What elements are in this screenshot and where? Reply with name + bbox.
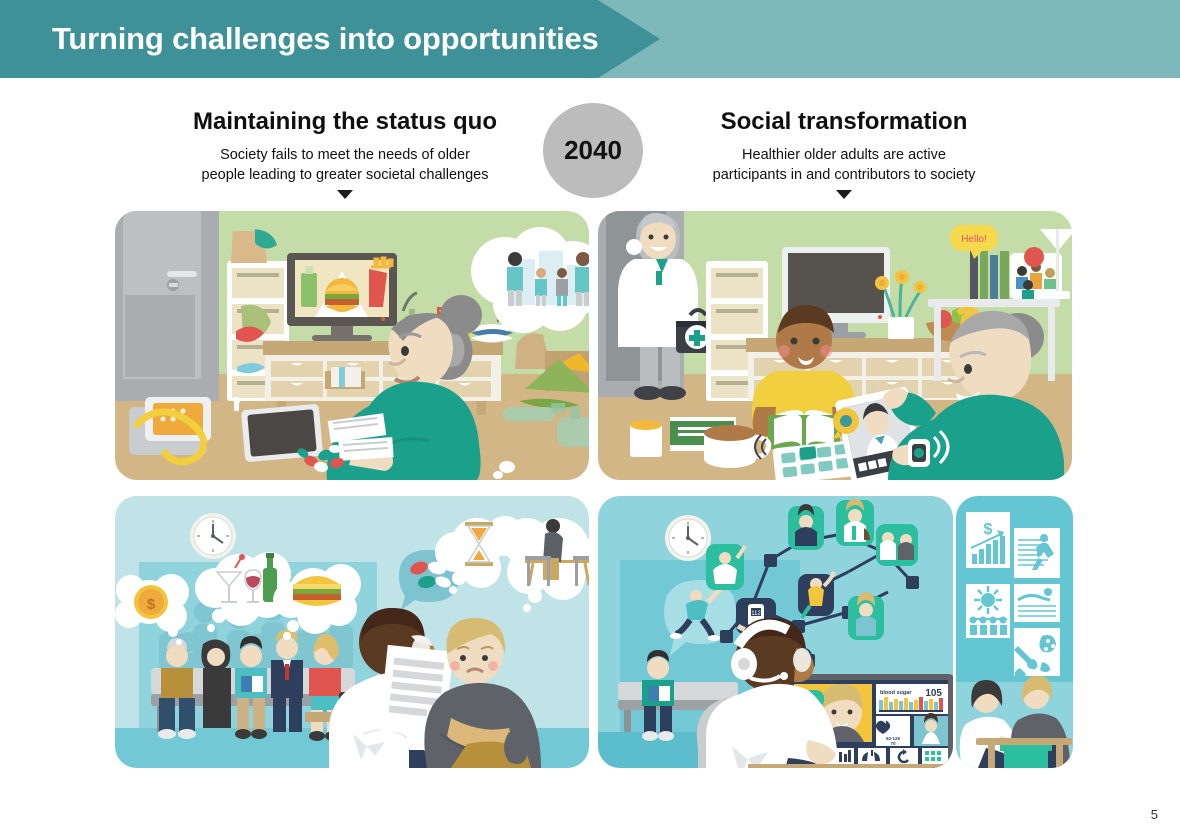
subtitle-maintaining-status-quo: Society fails to meet the needs of older…	[120, 145, 570, 185]
illustration-supported-home: Hello!	[598, 211, 1072, 480]
monitor-metric-value: 105	[925, 688, 942, 699]
subtitle-line-1: Healthier older adults are active	[742, 147, 946, 163]
heading-maintaining-status-quo: Maintaining the status quo	[120, 108, 570, 136]
svg-text:$: $	[984, 521, 993, 538]
caret-down-icon-left	[337, 190, 353, 199]
page-number: 5	[1151, 807, 1158, 822]
column-heading-right: Social transformation Healthier older ad…	[648, 108, 1040, 199]
illustration-activity-posters: $	[956, 496, 1073, 768]
svg-text:112: 112	[751, 611, 761, 617]
subtitle-line-1: Society fails to meet the needs of older	[220, 147, 470, 163]
page-title: Turning challenges into opportunities	[52, 0, 599, 78]
monitor-pulse-value: 70	[890, 741, 896, 746]
heading-social-transformation: Social transformation	[648, 108, 1040, 136]
subtitle-line-2: participants in and contributors to soci…	[713, 167, 976, 183]
illustration-crowded-clinic: $	[115, 496, 589, 768]
svg-text:$: $	[147, 596, 156, 613]
slide-root: Turning challenges into opportunities Ma…	[0, 0, 1180, 834]
illustration-cluttered-home: PO	[115, 211, 589, 480]
hello-bubble-text: Hello!	[961, 234, 987, 245]
subtitle-line-2: people leading to greater societal chall…	[202, 167, 489, 183]
illustration-connected-care: 112	[598, 496, 953, 768]
header-banner: Turning challenges into opportunities	[0, 0, 1180, 78]
caret-down-icon-right	[836, 190, 852, 199]
year-badge: 2040	[543, 103, 643, 198]
column-heading-left: Maintaining the status quo Society fails…	[120, 108, 570, 199]
subtitle-social-transformation: Healthier older adults are active partic…	[648, 145, 1040, 185]
monitor-metric-label: blood sugar	[880, 690, 912, 696]
